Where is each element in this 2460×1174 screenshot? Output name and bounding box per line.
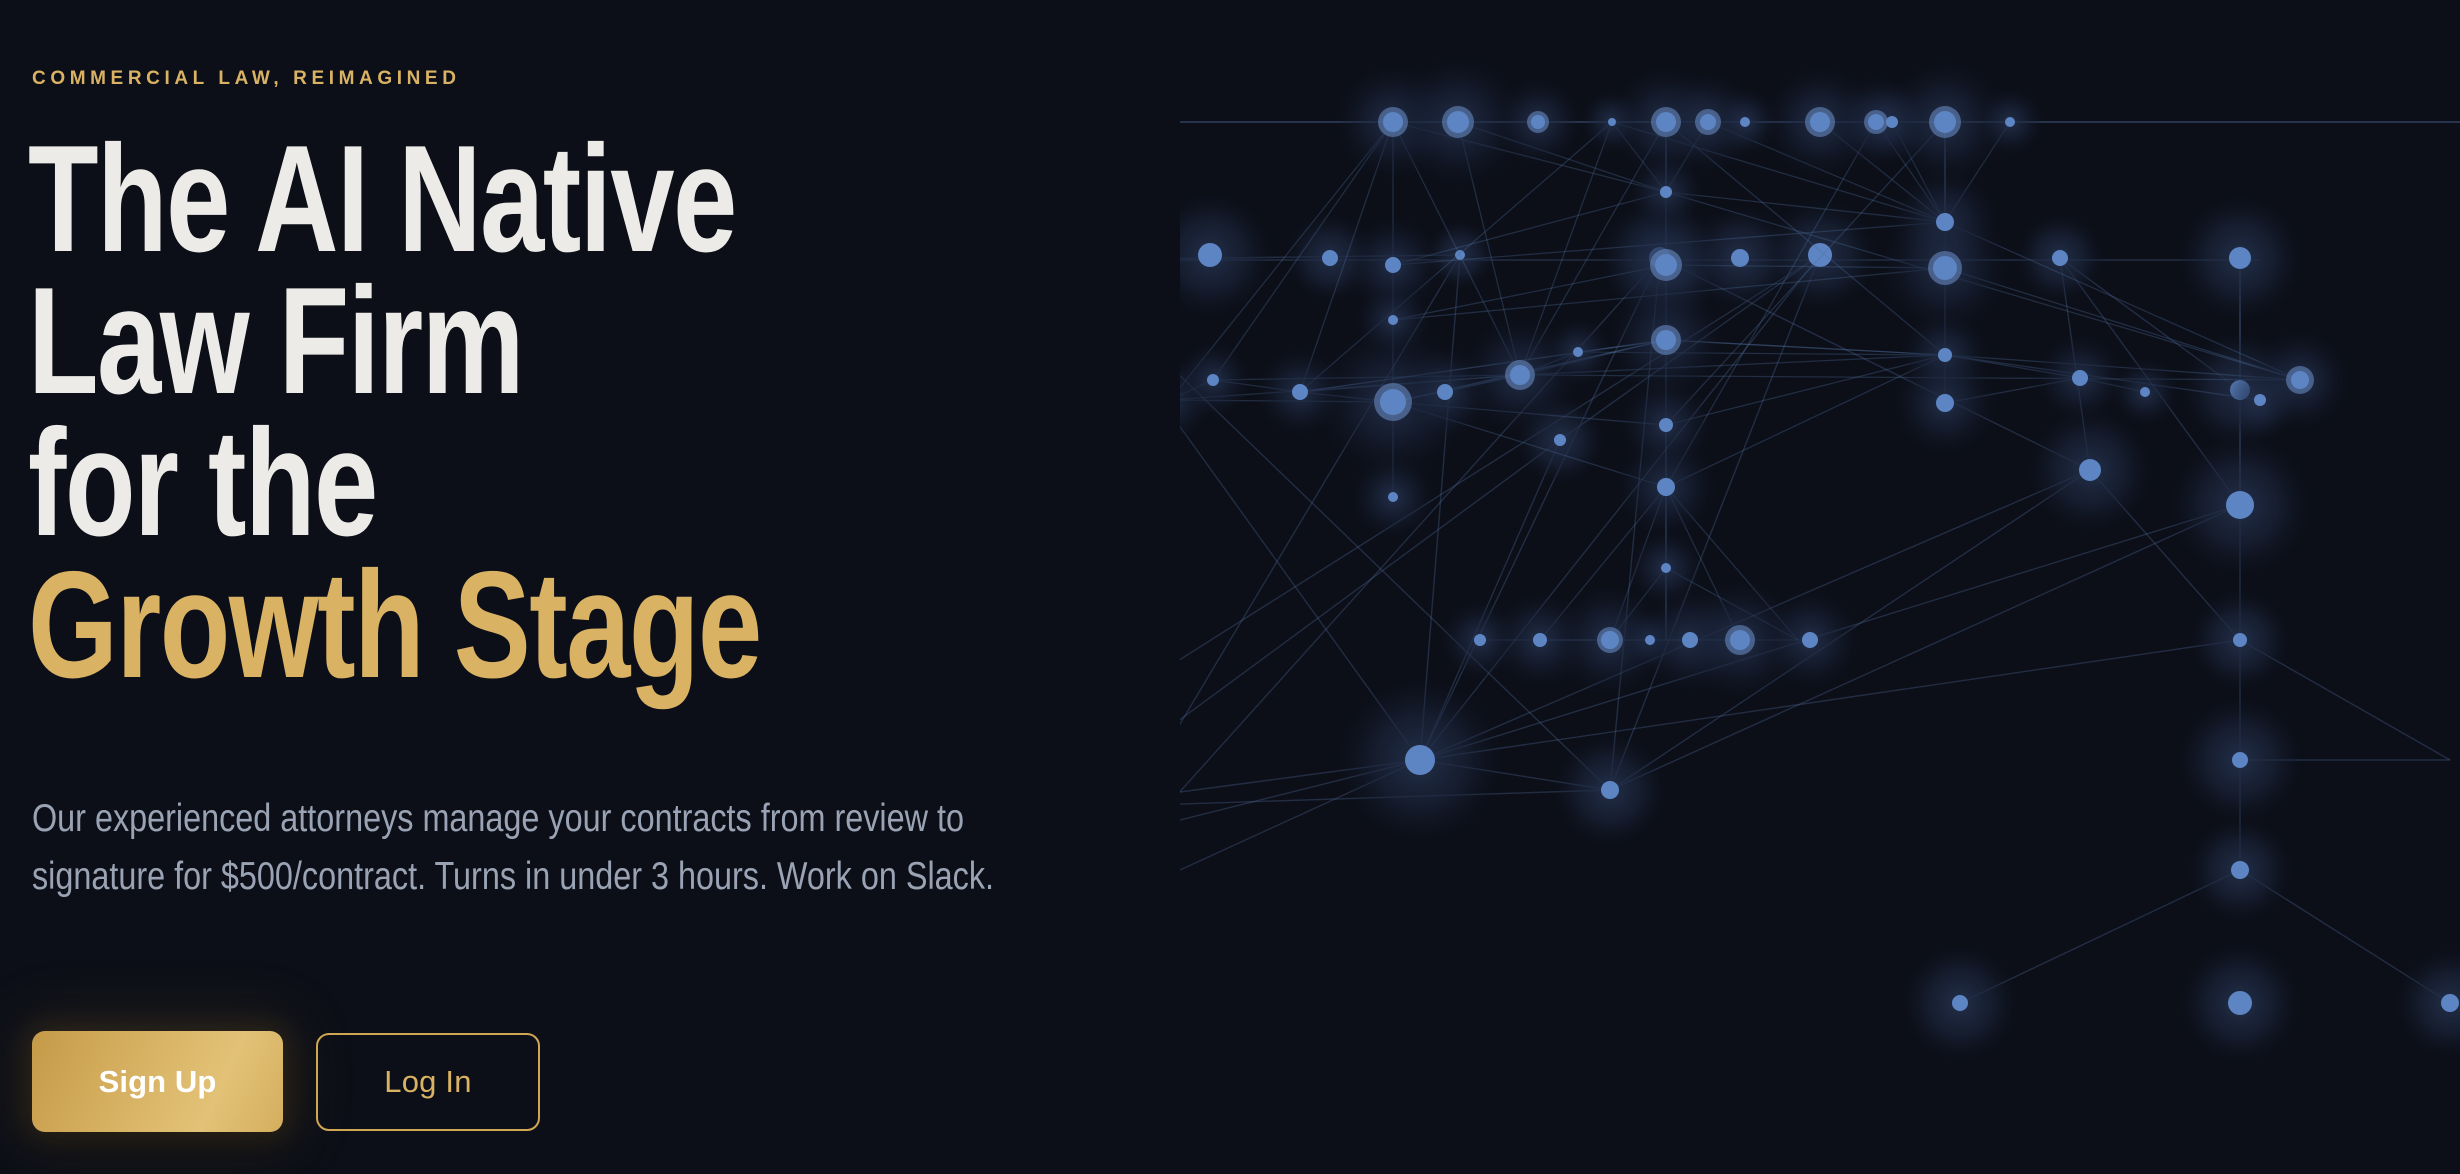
headline-line-2: Law Firm [28, 270, 761, 412]
hero-copy-column: COMMERCIAL LAW, REIMAGINED The AI Native… [32, 0, 1232, 1174]
hero-eyebrow: COMMERCIAL LAW, REIMAGINED [32, 68, 461, 90]
network-node-cores [1180, 106, 2314, 655]
cta-button-row: Sign Up Log In [32, 1031, 540, 1132]
network-nodes [1180, 193, 2460, 1063]
network-node-halos [1180, 56, 2350, 700]
headline-line-1: The AI Native [28, 128, 761, 270]
network-edges-main [1180, 122, 2460, 640]
network-edges-visible [1180, 122, 2460, 640]
log-in-button[interactable]: Log In [316, 1033, 540, 1131]
headline-line-3: for the [28, 412, 761, 554]
hero-subcopy: Our experienced attorneys manage your co… [32, 790, 1011, 906]
hero-section: COMMERCIAL LAW, REIMAGINED The AI Native… [0, 0, 2460, 1174]
page-title: The AI Native Law Firm for the Growth St… [28, 128, 761, 696]
sign-up-button[interactable]: Sign Up [32, 1031, 283, 1132]
headline-line-4-accent: Growth Stage [28, 554, 761, 696]
network-graph-illustration [1180, 0, 2460, 1174]
network-edges [1180, 255, 2450, 1003]
